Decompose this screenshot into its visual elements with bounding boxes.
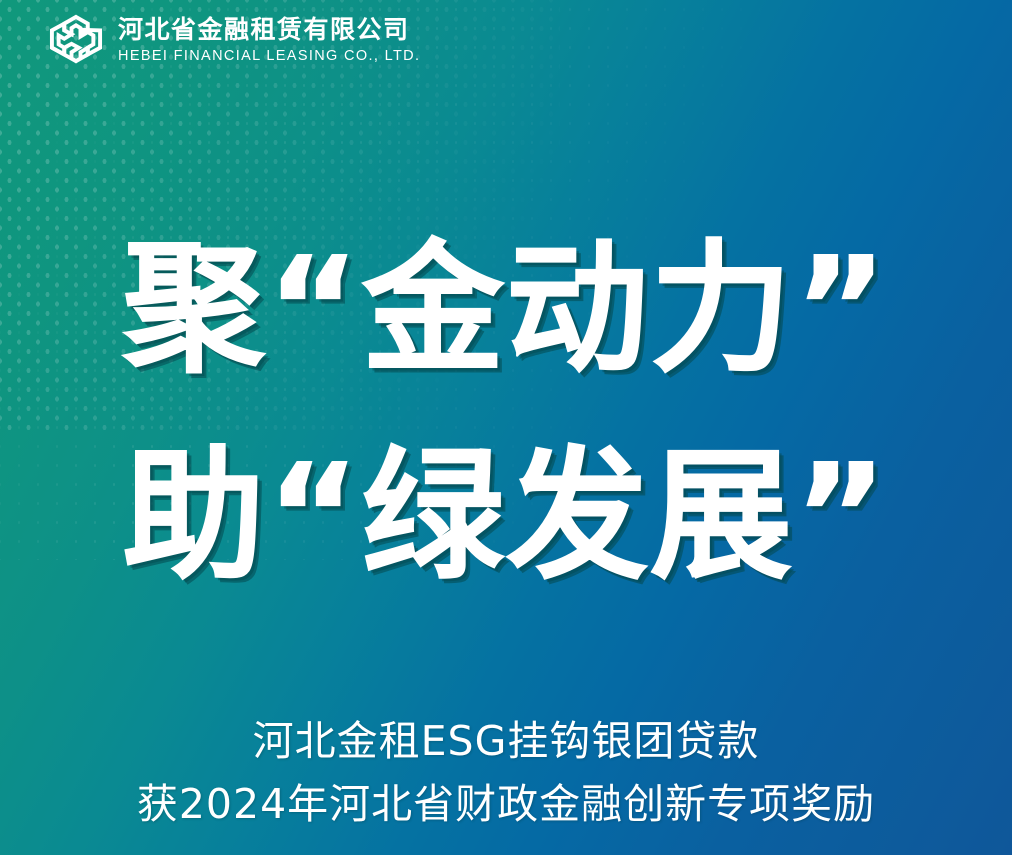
- company-name-cn: 河北省金融租赁有限公司: [118, 16, 420, 44]
- poster-canvas: 河北省金融租赁有限公司 HEBEI FINANCIAL LEASING CO.,…: [0, 0, 1012, 855]
- brand-text-block: 河北省金融租赁有限公司 HEBEI FINANCIAL LEASING CO.,…: [118, 16, 420, 65]
- hexagonal-interlock-logo-icon: [48, 13, 104, 69]
- headline-line-1: 聚“金动力”: [0, 206, 1012, 413]
- headline-block: 聚“金动力” 助“绿发展”: [0, 206, 1012, 621]
- subtitle-block: 河北金租ESG挂钩银团贷款 获2024年河北省财政金融创新专项奖励: [0, 710, 1012, 835]
- subtitle-line-1: 河北金租ESG挂钩银团贷款: [0, 710, 1012, 772]
- brand-logo-lockup: 河北省金融租赁有限公司 HEBEI FINANCIAL LEASING CO.,…: [48, 13, 420, 69]
- headline-line-2: 助“绿发展”: [0, 413, 1012, 620]
- subtitle-line-2: 获2024年河北省财政金融创新专项奖励: [0, 773, 1012, 835]
- company-name-en: HEBEI FINANCIAL LEASING CO., LTD.: [118, 47, 420, 65]
